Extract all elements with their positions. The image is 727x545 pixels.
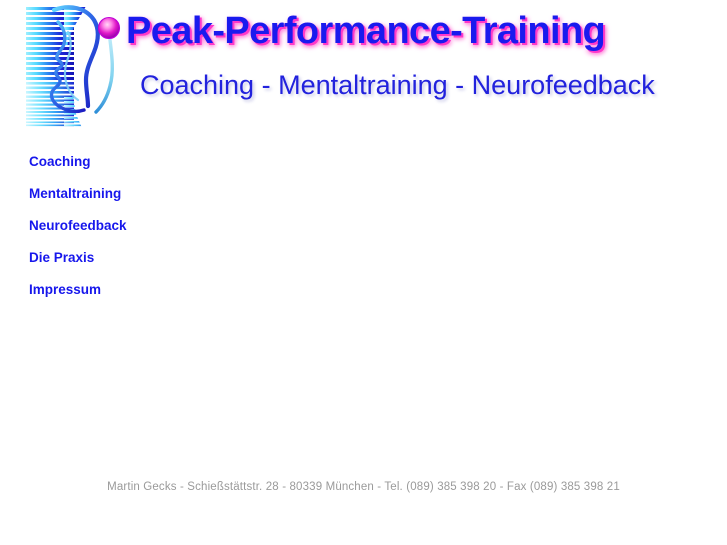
nav-item-neurofeedback[interactable]: Neurofeedback [29,219,127,233]
nav-item-impressum[interactable]: Impressum [29,283,101,297]
main-navigation: Coaching Mentaltraining Neurofeedback Di… [29,155,249,315]
nav-item-mentaltraining[interactable]: Mentaltraining [29,187,121,201]
footer-contact-text: Martin Gecks - Schießstättstr. 28 - 8033… [0,481,727,493]
logo-svg [24,2,122,130]
site-subtitle: Coaching - Mentaltraining - Neurofeedbac… [140,68,727,102]
head-profile-scanlines-logo [24,2,122,130]
title-block: Peak-Performance-Training Coaching - Men… [126,0,727,132]
nav-item-die-praxis[interactable]: Die Praxis [29,251,94,265]
site-banner: Peak-Performance-Training Coaching - Men… [0,0,727,132]
sphere-stem-path [96,40,112,112]
site-title: Peak-Performance-Training [126,8,727,54]
nav-item-coaching[interactable]: Coaching [29,155,91,169]
